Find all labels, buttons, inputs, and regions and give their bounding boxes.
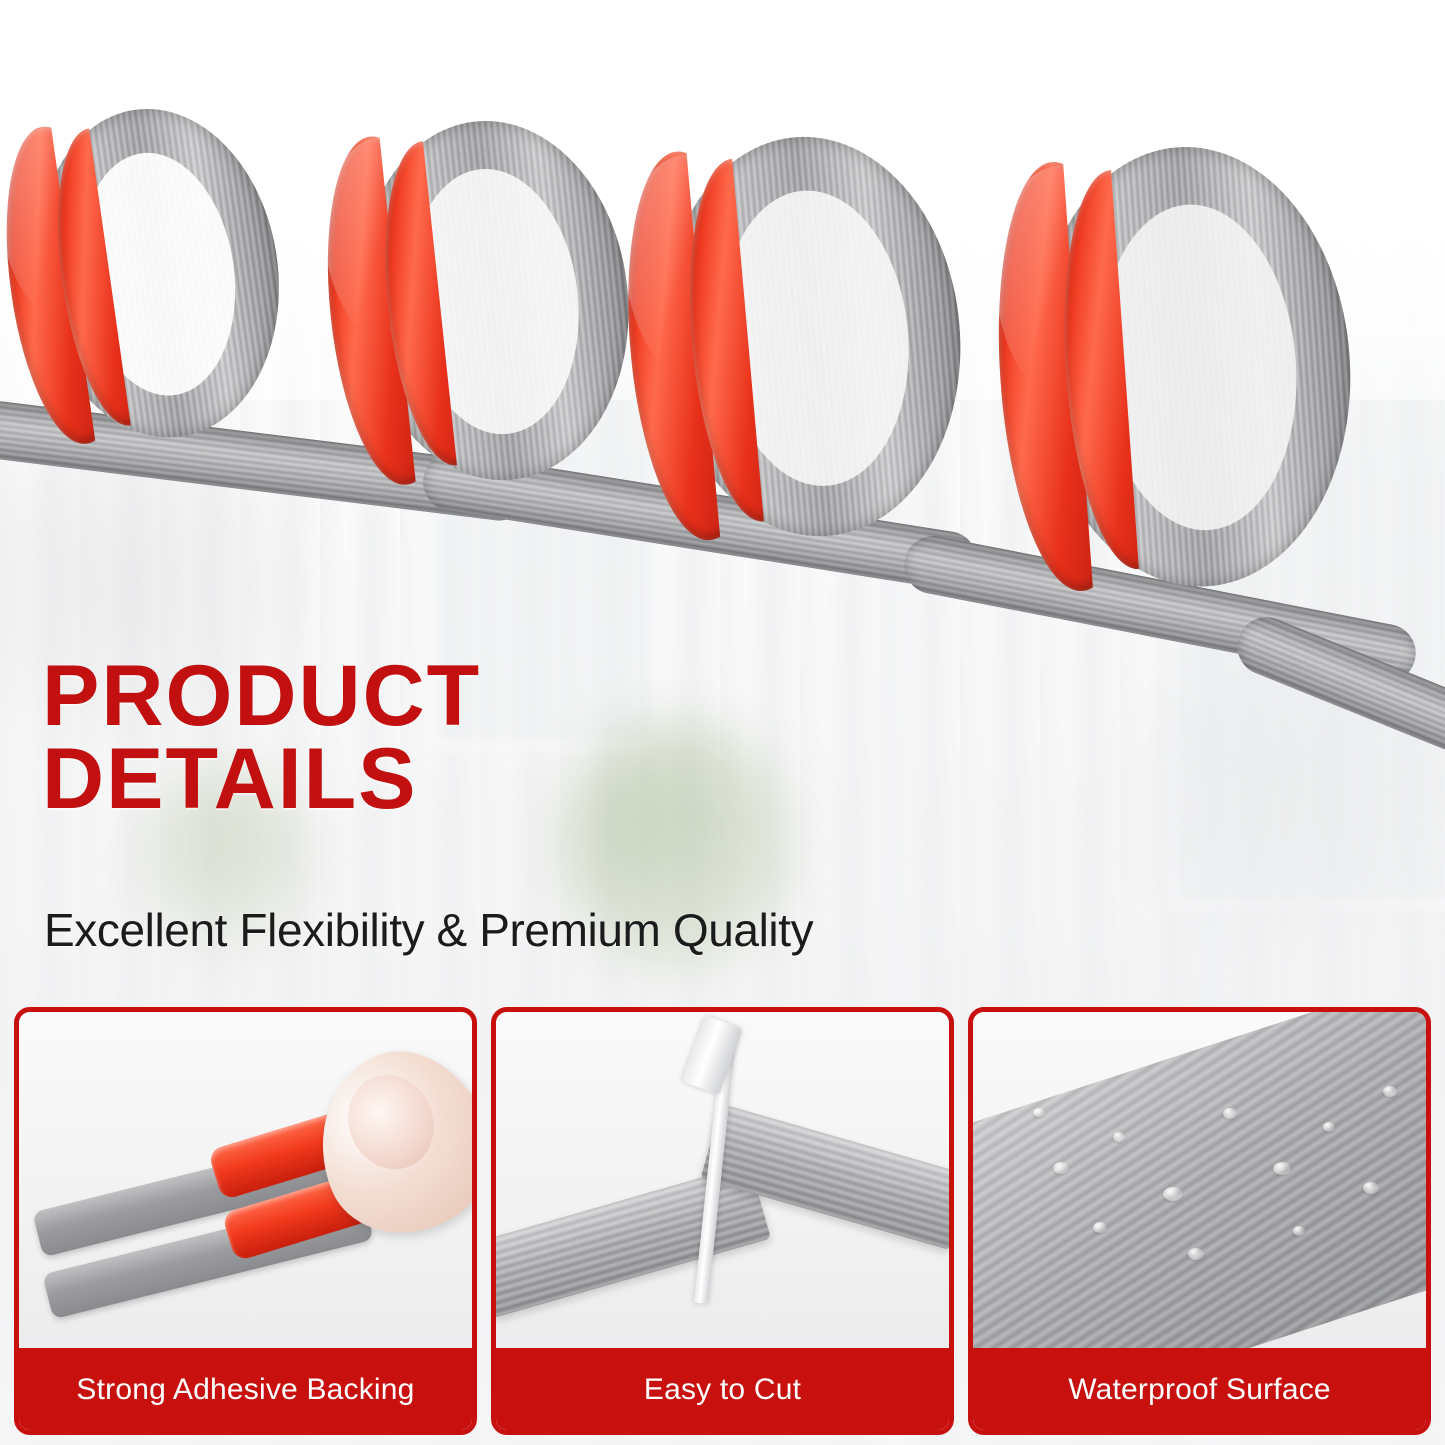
feature-card-waterproof: Waterproof Surface [968, 1007, 1431, 1435]
feature-cards: Strong Adhesive Backing Easy to Cut [14, 1007, 1431, 1435]
page-title-line-1: PRODUCT [42, 655, 1102, 738]
page-subtitle: Excellent Flexibility & Premium Quality [44, 903, 813, 957]
feature-card-cut-label: Easy to Cut [494, 1348, 951, 1432]
coil-4 [985, 136, 1365, 599]
feature-card-cut: Easy to Cut [491, 1007, 954, 1435]
product-details-infographic: PRODUCT DETAILS Excellent Flexibility & … [0, 0, 1445, 1445]
coil-1 [0, 93, 302, 457]
feature-card-waterproof-label: Waterproof Surface [971, 1348, 1428, 1432]
page-title: PRODUCT DETAILS [42, 655, 1102, 820]
feature-card-adhesive: Strong Adhesive Backing [14, 1007, 477, 1435]
coil-3 [613, 124, 977, 551]
page-title-line-2: DETAILS [42, 738, 1102, 821]
coil-2 [312, 107, 648, 496]
feature-card-adhesive-label: Strong Adhesive Backing [17, 1348, 474, 1432]
